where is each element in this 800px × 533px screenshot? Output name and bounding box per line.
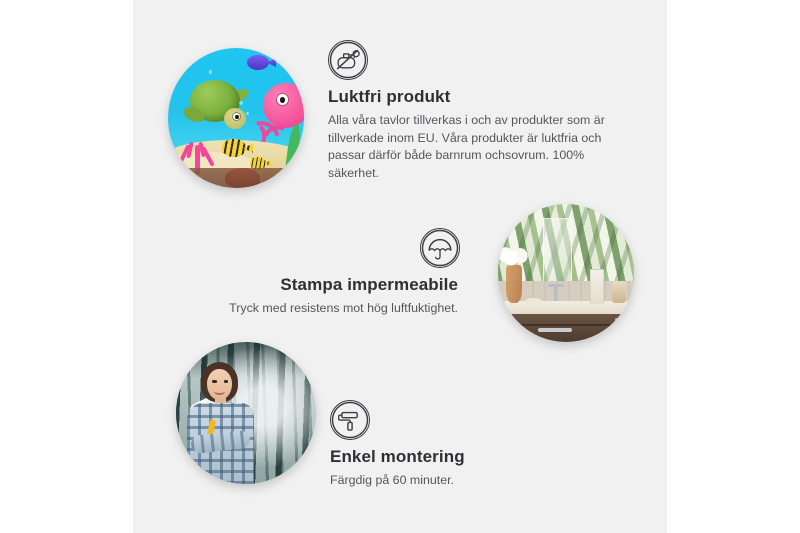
bathroom-scene [498, 204, 634, 342]
product-feature-infographic: Luktfri produkt Alla våra tavlor tillver… [0, 0, 800, 533]
towel [612, 281, 626, 303]
bubble-icon [239, 101, 243, 105]
forest-scene [176, 342, 316, 484]
vase [506, 265, 522, 304]
sea-floor-band [168, 168, 304, 188]
fish-yellow [222, 139, 245, 157]
octopus-eye [277, 94, 288, 105]
feature-title: Stampa impermeabile [180, 275, 458, 295]
feature-title: Enkel montering [330, 447, 580, 467]
feature-title: Luktfri produkt [328, 87, 618, 107]
umbrella-icon [420, 228, 458, 266]
image-forest-mural-with-painter [176, 342, 316, 484]
feature-odourless: Luktfri produkt Alla våra tavlor tillver… [328, 40, 618, 182]
fish-blue [247, 55, 269, 70]
underwater-scene [168, 48, 304, 188]
no-fragrance-icon [328, 40, 366, 78]
bottle [590, 269, 604, 304]
paint-roller-icon [330, 400, 368, 438]
feature-body: Alla våra tavlor tillverkas i och av pro… [328, 112, 618, 182]
soap-dish [525, 298, 541, 305]
door-handle [615, 318, 619, 335]
person-eye [212, 380, 216, 382]
octopus-head [263, 83, 304, 128]
bubble-icon [209, 70, 213, 74]
image-bathroom-botanical-mural [498, 204, 634, 342]
faucet [554, 284, 557, 301]
feature-easy-mounting: Enkel montering Färgdig på 60 minuter. [330, 400, 580, 490]
feature-body: Färgdig på 60 minuter. [330, 472, 580, 490]
feature-waterproof: Stampa impermeabile Tryck med resistens … [180, 228, 458, 318]
flowers [499, 247, 529, 269]
image-underwater-mural [168, 48, 304, 188]
person-eye [224, 380, 228, 382]
feature-body: Tryck med resistens mot hög luftfuktighe… [180, 300, 458, 318]
person-face [207, 369, 232, 400]
vanity-cabinet [509, 314, 634, 342]
mirror [543, 218, 572, 283]
drawer-handle [538, 328, 572, 332]
bubble-icon [246, 112, 249, 115]
